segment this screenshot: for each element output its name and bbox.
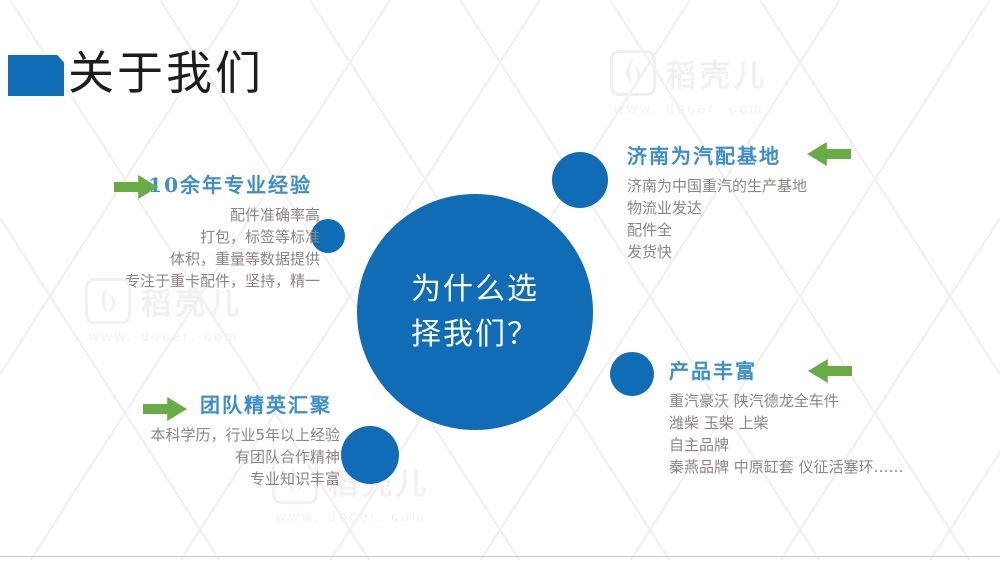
page-title: 关于我们 — [68, 44, 264, 102]
block-base-line: 发货快 — [627, 241, 927, 263]
center-circle-label: 为什么选择我们？ — [400, 267, 550, 357]
watermark-url-text: www. docer. com — [614, 100, 765, 116]
watermark-url-text: www. docer. com — [276, 508, 427, 524]
block-experience-line: 专注于重卡配件，坚持，精一 — [0, 270, 320, 292]
slide-canvas: 稻壳儿 www. docer. com 稻壳儿 www. docer. com — [0, 0, 1000, 561]
bottom-divider — [0, 556, 1000, 557]
block-experience-body: 配件准确率高 打包，标签等标准 体积，重量等数据提供 专注于重卡配件，坚持，精一 — [0, 204, 320, 292]
block-products-line: 自主品牌 — [669, 434, 999, 456]
block-experience: 10余年专业经验 配件准确率高 打包，标签等标准 体积，重量等数据提供 专注于重… — [0, 172, 320, 292]
title-accent-shape — [8, 55, 64, 96]
block-base-body: 济南为中国重汽的生产基地 物流业发达 配件全 发货快 — [627, 175, 927, 263]
watermark-url-text: www. docer. com — [89, 328, 240, 344]
block-team-line: 有团队合作精神 — [0, 446, 340, 468]
watermark-brand-text: 稻壳儿 — [666, 51, 768, 95]
decorative-circle-small-bottom — [341, 426, 399, 484]
decorative-circle-small-right — [610, 352, 654, 396]
center-circle: 为什么选择我们？ — [357, 194, 593, 430]
block-products-line: 重汽豪沃 陕汽德龙全车件 — [669, 390, 999, 412]
block-products-line: 秦燕品牌 中原缸套 仪征活塞环…… — [669, 456, 999, 478]
block-base-heading: 济南为汽配基地 — [627, 143, 927, 169]
block-base-line: 物流业发达 — [627, 197, 927, 219]
block-experience-line: 配件准确率高 — [0, 204, 320, 226]
decorative-circle-small-top — [552, 152, 608, 208]
docer-logo-icon — [610, 50, 656, 96]
block-base-line: 济南为中国重汽的生产基地 — [627, 175, 927, 197]
watermark-docer-top: 稻壳儿 www. docer. com — [610, 50, 768, 116]
block-products-line: 潍柴 玉柴 上柴 — [669, 412, 999, 434]
block-base: 济南为汽配基地 济南为中国重汽的生产基地 物流业发达 配件全 发货快 — [627, 143, 927, 263]
block-products-body: 重汽豪沃 陕汽德龙全车件 潍柴 玉柴 上柴 自主品牌 秦燕品牌 中原缸套 仪征活… — [669, 390, 999, 478]
block-team-line: 本科学历，行业5年以上经验 — [0, 424, 340, 446]
block-experience-heading: 10余年专业经验 — [0, 172, 320, 198]
block-products: 产品丰富 重汽豪沃 陕汽德龙全车件 潍柴 玉柴 上柴 自主品牌 秦燕品牌 中原缸… — [669, 358, 999, 478]
block-team-line: 专业知识丰富 — [0, 468, 340, 490]
block-team-body: 本科学历，行业5年以上经验 有团队合作精神 专业知识丰富 — [0, 424, 340, 490]
block-base-line: 配件全 — [627, 219, 927, 241]
block-experience-line: 打包，标签等标准 — [0, 226, 320, 248]
block-experience-line: 体积，重量等数据提供 — [0, 248, 320, 270]
